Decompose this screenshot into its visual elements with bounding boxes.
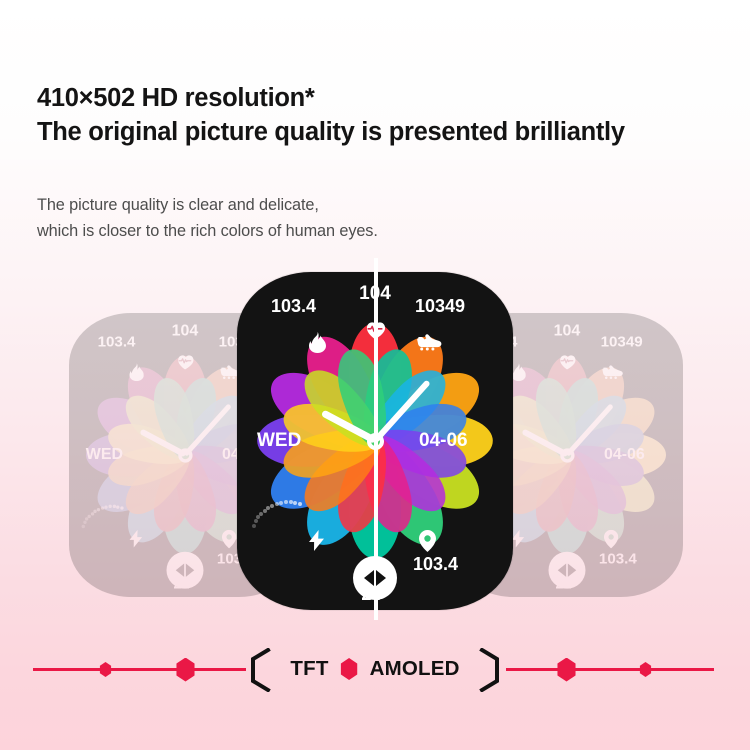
progress-arc [247,518,325,584]
location-pin-icon [222,530,236,548]
prev-next-arrows-icon[interactable] [166,552,203,589]
battery-bolt-icon [130,530,143,548]
steps-value: 10349 [415,296,465,317]
heart-rate-icon [177,353,195,370]
prev-arrow-icon[interactable] [364,570,374,586]
clock-center-pivot [178,448,192,462]
prev-arrow-icon[interactable] [558,563,566,576]
battery-bolt-icon [309,530,324,551]
next-arrow-icon[interactable] [186,563,194,576]
heart-rate-value: 104 [172,322,199,340]
page-heading: 410×502 HD resolution* The original pict… [37,82,727,150]
rule-left [33,668,246,671]
subheading-line-1: The picture quality is clear and delicat… [37,192,727,218]
location-pin-icon [604,530,618,548]
amoled-label: AMOLED [370,657,460,681]
tft-amoled-label: TFT AMOLED [282,649,468,689]
battery-bolt-icon [512,530,525,548]
prev-next-arrows-icon[interactable] [353,556,397,600]
distance-value: 103.4 [413,554,458,575]
tft-label: TFT [290,657,328,681]
calories-flame-icon [309,332,326,353]
marker-hex-2 [175,658,196,682]
next-arrow-icon[interactable] [376,570,386,586]
marker-hex-1 [99,662,112,677]
rule-right [506,668,714,671]
clock-center-pivot [560,448,574,462]
steps-value: 10349 [601,333,643,351]
watch-showcase: 104103.410349WED04-06103.424° 104103.410… [0,258,750,620]
heading-line-2: The original picture quality is presente… [37,116,727,150]
marker-hex-4 [639,662,652,677]
subheading-line-2: which is closer to the rich colors of hu… [37,218,727,244]
steps-shoe-icon [602,365,623,379]
heading-line-1: 410×502 HD resolution* [37,82,727,116]
comparison-strip: TFT AMOLED [0,640,750,698]
calories-value: 103.4 [271,296,316,317]
calories-value: 103.4 [98,333,136,351]
prev-arrow-icon[interactable] [176,563,184,576]
calories-flame-icon [512,363,526,381]
date-value: 04-06 [419,430,468,452]
calories-flame-icon [130,363,144,381]
location-pin-icon [419,530,436,552]
prev-next-arrows-icon[interactable] [548,552,585,589]
steps-shoe-icon [417,334,442,351]
bracket-left-icon [246,648,272,692]
date-value: 04-06 [604,446,645,464]
page-subheading: The picture quality is clear and delicat… [37,192,727,245]
next-arrow-icon[interactable] [568,563,576,576]
weekday-value: WED [86,446,123,464]
heart-rate-value: 104 [554,322,581,340]
bracket-right-icon [478,648,504,692]
heart-rate-icon [559,353,577,370]
weekday-value: WED [257,430,301,452]
center-hex-icon [340,658,359,680]
distance-value: 103.4 [599,550,637,568]
marker-hex-3 [556,658,577,682]
